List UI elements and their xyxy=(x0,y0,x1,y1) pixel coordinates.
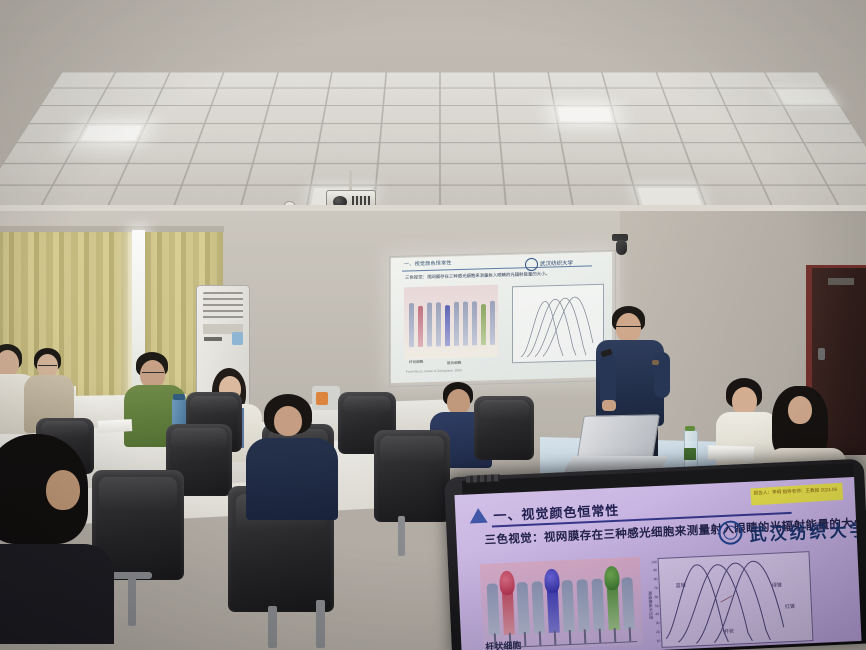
ceiling-tile xyxy=(718,88,783,105)
monitor-screen[interactable]: 一、视觉颜色恒常性 报告人：李明 指导老师：王教授 2024.06 三色视觉：视… xyxy=(454,477,861,650)
projected-label-cone: 锥状细胞 xyxy=(447,361,461,366)
ceiling-tile xyxy=(118,163,191,185)
ceiling-tile xyxy=(561,143,627,163)
ceiling-tile xyxy=(40,88,107,105)
ceiling-tile xyxy=(319,124,381,143)
chart-y-axis-label: 相对光谱敏感度 xyxy=(647,591,654,619)
ceiling-tile xyxy=(440,143,502,163)
ceiling-tile xyxy=(379,124,440,143)
door-sign xyxy=(828,278,854,285)
ceiling-tile xyxy=(440,124,501,143)
curve-label-green: 绿锥 xyxy=(772,581,782,588)
chair-leg xyxy=(268,606,277,648)
ac-logo xyxy=(204,337,222,341)
chair-leg xyxy=(128,576,136,626)
university-name: 武汉纺织大学 xyxy=(749,515,862,545)
photoreceptor-diagram xyxy=(480,557,644,650)
ceiling-tile xyxy=(668,105,734,123)
ceiling-tile xyxy=(793,124,864,143)
ac-sticker xyxy=(232,332,243,345)
bag-detail xyxy=(316,392,328,405)
ceiling-tile xyxy=(803,143,866,163)
office-chair[interactable] xyxy=(374,430,450,522)
ceiling-tile xyxy=(154,88,217,105)
ceiling-tile xyxy=(16,124,87,143)
presenter-glasses-icon xyxy=(616,326,641,327)
ceiling-tile xyxy=(162,72,224,88)
ceiling-tile xyxy=(53,163,128,185)
ceiling-tile xyxy=(662,88,725,105)
ceiling-tile xyxy=(137,124,205,143)
ceiling-tile xyxy=(734,124,803,143)
projected-chart-svg xyxy=(513,285,603,363)
projected-photoreceptor-diagram xyxy=(404,285,498,360)
ceiling-tile xyxy=(107,72,170,88)
ceiling-tile xyxy=(51,72,116,88)
ceiling-tile xyxy=(565,163,634,185)
ceiling-tile xyxy=(675,124,743,143)
ceiling-tile xyxy=(29,105,98,123)
ceiling-tile xyxy=(97,88,162,105)
ceiling-tile xyxy=(378,143,440,163)
ceiling-tile xyxy=(440,88,497,105)
wristwatch xyxy=(652,360,659,365)
curve-label-rod: 杆状 xyxy=(724,628,734,635)
ceiling-tile xyxy=(205,105,269,123)
ceiling-tile xyxy=(607,88,669,105)
ceiling-tile xyxy=(656,72,718,88)
ceiling-tile xyxy=(616,124,682,143)
ceiling-tile xyxy=(329,72,386,88)
ceiling-tile xyxy=(375,163,439,185)
spectral-sensitivity-chart: 100 90 80 70 60 50 40 30 20 10 蓝锥 绿锥 红锥 … xyxy=(658,551,814,648)
projected-spectral-chart xyxy=(512,284,604,364)
wall-trim xyxy=(0,205,866,211)
presenter-left-arm xyxy=(600,354,616,406)
presenter-hand-left xyxy=(602,400,616,411)
chair-leg xyxy=(316,600,325,648)
chart-curves-svg xyxy=(659,552,813,647)
ceiling-tile xyxy=(326,88,385,105)
ceiling-tile xyxy=(269,88,329,105)
wall-camera-icon xyxy=(616,240,627,255)
ceiling-tile xyxy=(218,72,278,88)
ceiling-tile xyxy=(182,163,253,185)
projector-mount-rod xyxy=(349,170,352,192)
ceiling-tile xyxy=(783,105,852,123)
ceiling-tile xyxy=(622,143,690,163)
office-chair[interactable] xyxy=(474,396,534,460)
curve-label-blue: 蓝锥 xyxy=(676,582,686,589)
bottle-label xyxy=(684,448,696,460)
ceiling-tile xyxy=(764,72,829,88)
projected-label-rod: 杆状细胞 xyxy=(409,360,423,365)
ceiling-tile xyxy=(558,124,622,143)
curve-label-red: 红锥 xyxy=(785,603,795,610)
ceiling-tile xyxy=(258,124,322,143)
ceiling-tile xyxy=(264,105,326,123)
ceiling-tile xyxy=(381,105,440,123)
ceiling-tile xyxy=(440,163,504,185)
ceiling-tile xyxy=(440,105,499,123)
tumbler-cap xyxy=(173,394,185,400)
ceiling-tile xyxy=(725,105,792,123)
paper-sheet[interactable] xyxy=(708,445,754,461)
ceiling-tile xyxy=(499,124,561,143)
ceiling-tile xyxy=(602,72,662,88)
ceiling-tile xyxy=(611,105,675,123)
ceiling-tile xyxy=(311,163,378,185)
ceiling-tile xyxy=(494,72,551,88)
ceiling-tile xyxy=(65,143,137,163)
ceiling-tile xyxy=(128,143,198,163)
ceiling-tile xyxy=(682,143,752,163)
ceiling-tile xyxy=(198,124,264,143)
slide-triangle-icon xyxy=(469,508,488,524)
ceiling-tile xyxy=(502,163,569,185)
bottle-cap xyxy=(685,426,695,431)
ac-grill xyxy=(203,292,243,320)
ceiling-tile xyxy=(384,72,440,88)
ceiling-tile xyxy=(501,143,565,163)
ceiling-tile xyxy=(190,143,258,163)
ceiling-tile xyxy=(548,72,607,88)
ceiling-tile xyxy=(743,143,815,163)
ceiling-tile xyxy=(315,143,379,163)
ceiling-tile xyxy=(440,72,496,88)
ceiling-tile xyxy=(273,72,332,88)
ceiling-tile xyxy=(690,163,763,185)
ceiling-light-panel xyxy=(638,188,702,206)
ceiling-tile xyxy=(87,105,154,123)
paper-sheet[interactable] xyxy=(98,419,133,433)
rod-cell-label: 杆状细胞 xyxy=(485,638,522,650)
ceiling-tile xyxy=(710,72,773,88)
ceiling-tile xyxy=(247,163,316,185)
ceiling-light-panel xyxy=(558,107,613,121)
ceiling-light-panel xyxy=(81,126,141,141)
ceiling-tile xyxy=(146,105,212,123)
ceiling-tile xyxy=(497,105,557,123)
presenter-right-arm xyxy=(654,352,670,398)
ceiling-light-panel xyxy=(777,90,835,103)
ceiling-tile xyxy=(383,88,440,105)
ceiling-tile xyxy=(253,143,319,163)
ceiling-tile xyxy=(212,88,274,105)
chair-leg xyxy=(398,516,405,556)
projected-slide-title: 一、视觉颜色恒常性 xyxy=(404,259,452,267)
lecture-room-photo: 一、视觉颜色恒常性 三色视觉：视网膜存在三种感光细胞来测量射入眼睛的光辐射能量的… xyxy=(0,0,866,650)
door-handle[interactable] xyxy=(818,348,825,360)
ceiling-tile xyxy=(322,105,382,123)
ceiling-tile xyxy=(627,163,698,185)
projected-university-name: 武汉纺织大学 xyxy=(540,259,573,268)
ceiling-tile xyxy=(496,88,555,105)
ceiling-tile xyxy=(551,88,611,105)
